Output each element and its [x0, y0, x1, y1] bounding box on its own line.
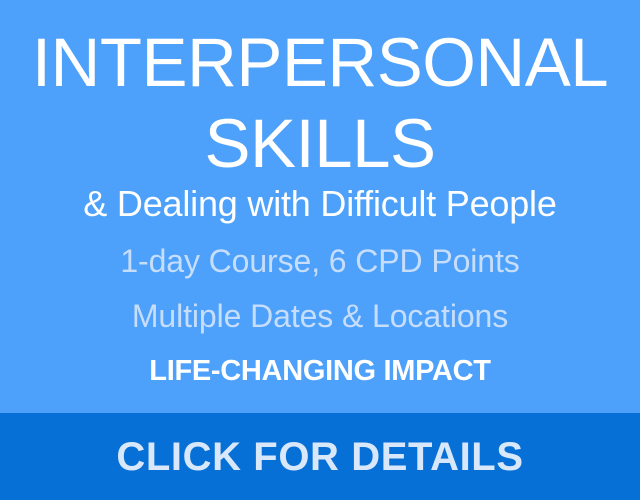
cta-button[interactable]: CLICK FOR DETAILS — [0, 413, 640, 500]
ad-content-area: INTERPERSONAL SKILLS & Dealing with Diff… — [0, 0, 640, 413]
subheadline: & Dealing with Difficult People — [0, 186, 640, 222]
detail-line-course-info: 1-day Course, 6 CPD Points — [0, 245, 640, 277]
advertisement-banner[interactable]: INTERPERSONAL SKILLS & Dealing with Diff… — [0, 0, 640, 500]
headline-line-2: SKILLS — [0, 109, 640, 178]
headline-line-1: INTERPERSONAL — [0, 28, 640, 97]
detail-line-dates-locations: Multiple Dates & Locations — [0, 300, 640, 332]
cta-button-label: CLICK FOR DETAILS — [116, 437, 523, 477]
impact-statement: LIFE-CHANGING IMPACT — [0, 357, 640, 386]
